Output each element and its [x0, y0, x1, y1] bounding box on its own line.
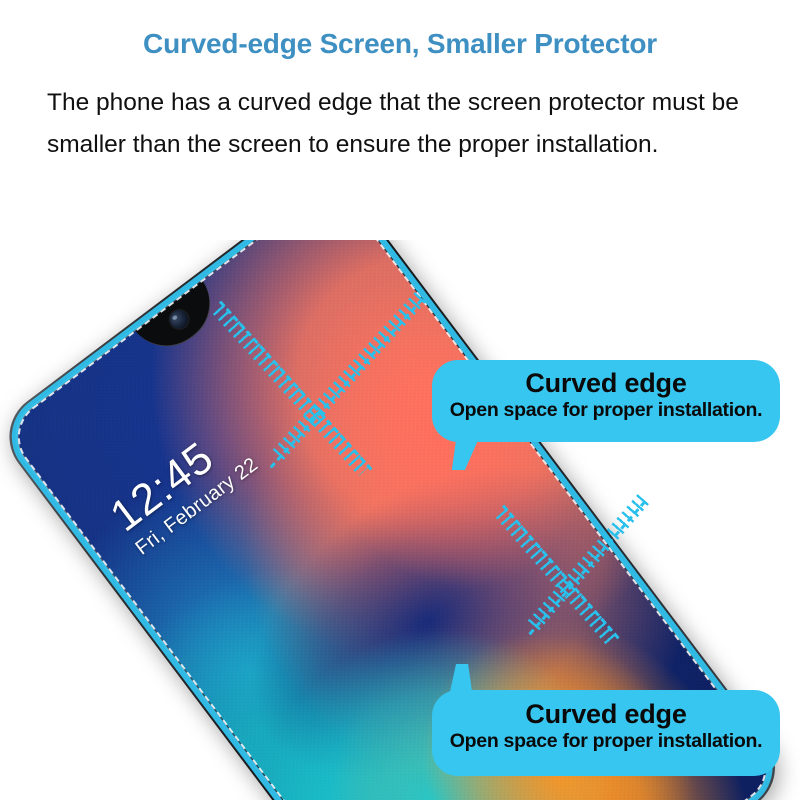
callout-title: Curved edge: [432, 369, 780, 399]
callout-subtitle: Open space for proper installation.: [432, 399, 780, 421]
callout-subtitle: Open space for proper installation.: [432, 730, 780, 752]
measurement-marker-top: [230, 290, 440, 480]
description-paragraph: The phone has a curved edge that the scr…: [47, 82, 763, 166]
callout-curved-edge-bottom[interactable]: Curved edge Open space for proper instal…: [432, 690, 780, 776]
callout-title: Curved edge: [432, 700, 780, 730]
product-infographic-page: Curved-edge Screen, Smaller Protector Th…: [0, 0, 800, 800]
page-title: Curved-edge Screen, Smaller Protector: [0, 28, 800, 60]
callout-pointer-tail: [446, 664, 472, 692]
callout-pointer-tail: [452, 440, 478, 470]
ruler-ticks-c: [496, 508, 618, 645]
ruler-ticks-b: [272, 292, 426, 461]
callout-curved-edge-top[interactable]: Curved edge Open space for proper instal…: [432, 360, 780, 442]
measurement-marker-right: [495, 500, 675, 680]
front-camera-icon: [167, 307, 192, 332]
